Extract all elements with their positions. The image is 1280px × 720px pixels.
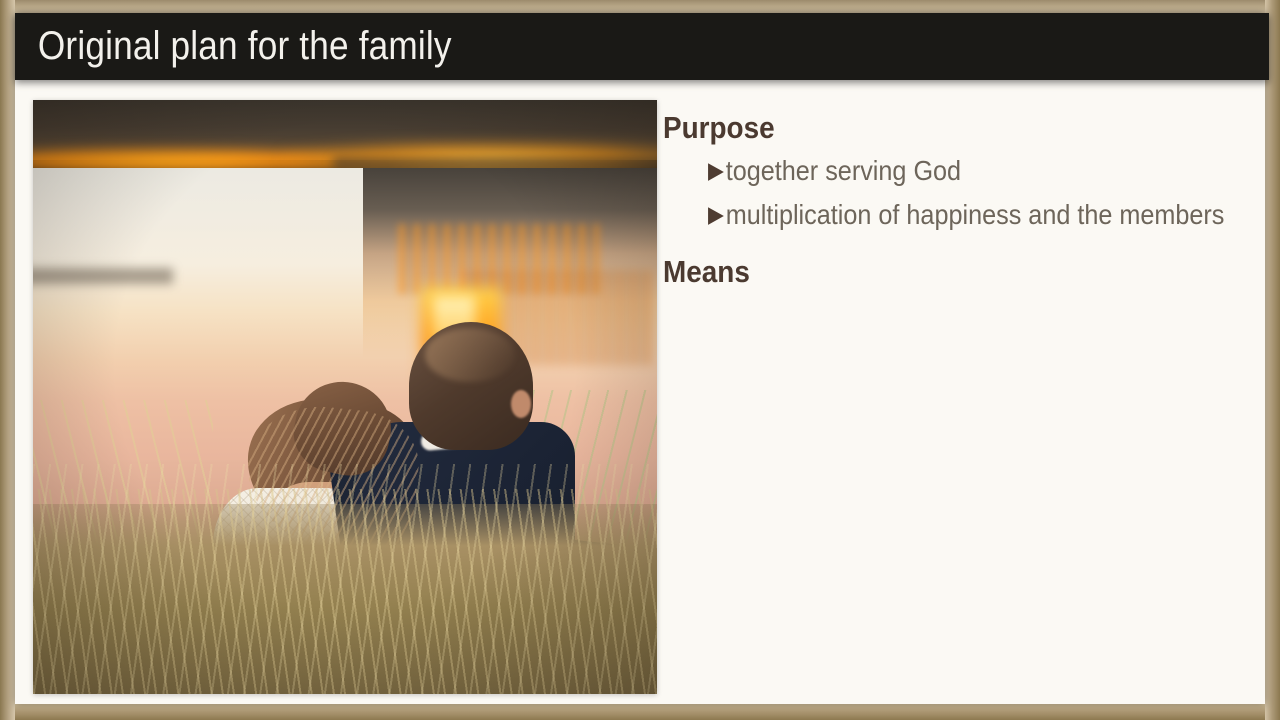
bullet-item-multiplication: ▶ multiplication of happiness and the me…	[663, 193, 1194, 237]
triangle-bullet-icon: ▶	[708, 193, 724, 237]
photo-vignette	[33, 100, 657, 694]
bullet-item-together-serving-god: ▶ together serving God	[663, 149, 1194, 193]
bullet-label: together serving God	[726, 149, 961, 193]
frame-border-right	[1265, 0, 1280, 720]
frame-border-top	[0, 0, 1280, 13]
content-heading-means: Means	[663, 252, 1194, 293]
page-title: Original plan for the family	[15, 24, 452, 69]
wedding-couple-photo	[33, 100, 657, 694]
slide-frame: Original plan for the family	[0, 0, 1280, 720]
bullet-label: multiplication of happiness and the memb…	[726, 193, 1225, 237]
slide-photo-frame	[33, 100, 657, 694]
slide-body: Original plan for the family	[15, 13, 1265, 704]
triangle-bullet-icon: ▶	[708, 149, 724, 193]
slide-title-bar: Original plan for the family	[15, 13, 1269, 80]
frame-border-bottom	[0, 704, 1280, 720]
slide-content-text: Purpose ▶ together serving God ▶ multipl…	[663, 108, 1253, 293]
frame-border-left	[0, 0, 15, 720]
content-heading-purpose: Purpose	[663, 108, 1194, 149]
